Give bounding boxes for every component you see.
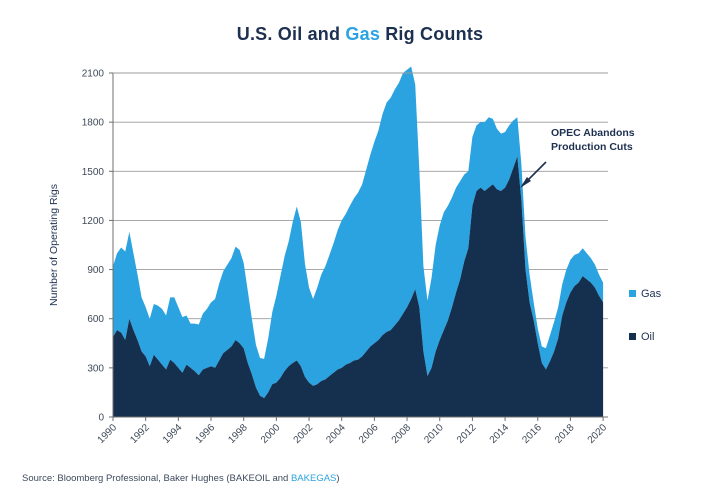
legend-label-oil[interactable]: Oil [641,331,654,343]
x-tick-label: 2020 [586,422,610,446]
y-tick-label: 600 [87,314,104,325]
x-tick-label: 2008 [390,422,414,446]
x-tick-label: 2004 [324,422,348,446]
y-tick-label: 900 [87,265,104,276]
x-tick-label: 2000 [259,422,283,446]
x-tick-label: 1996 [194,422,218,446]
legend-swatch-gas [629,290,636,297]
x-tick-label: 2018 [553,422,577,446]
y-tick-label: 1800 [82,118,105,129]
x-tick-label: 2006 [357,422,381,446]
x-tick-label: 2016 [520,422,544,446]
y-axis-title: Number of Operating Rigs [48,184,60,306]
x-tick-label: 2012 [455,422,479,446]
y-tick-label: 0 [98,413,104,424]
x-tick-label: 2002 [292,422,316,446]
legend-label-gas[interactable]: Gas [641,288,662,300]
x-tick-label: 1998 [226,422,250,446]
y-tick-label: 300 [87,363,104,374]
x-tick-label: 1990 [96,422,120,446]
y-tick-label: 1500 [82,167,105,178]
y-tick-label: 1200 [82,216,105,227]
y-tick-label: 2100 [82,69,105,80]
source-link-bakegas[interactable]: BAKEGAS [291,473,336,484]
x-tick-label: 2014 [488,422,512,446]
source-suffix: ) [336,473,339,484]
source-note: Source: Bloomberg Professional, Baker Hu… [22,473,340,484]
source-prefix: Source: Bloomberg Professional, Baker Hu… [22,473,291,484]
legend-swatch-oil [629,333,636,340]
annotation-line-1: OPEC Abandons [551,127,635,139]
annotation-line-2: Production Cuts [551,141,633,153]
x-tick-label: 1992 [128,422,152,446]
x-tick-label: 1994 [161,422,185,446]
chart-container: 03006009001200150018002100Number of Oper… [0,0,720,470]
x-tick-label: 2010 [422,422,446,446]
rig-counts-area-chart: 03006009001200150018002100Number of Oper… [0,0,720,470]
